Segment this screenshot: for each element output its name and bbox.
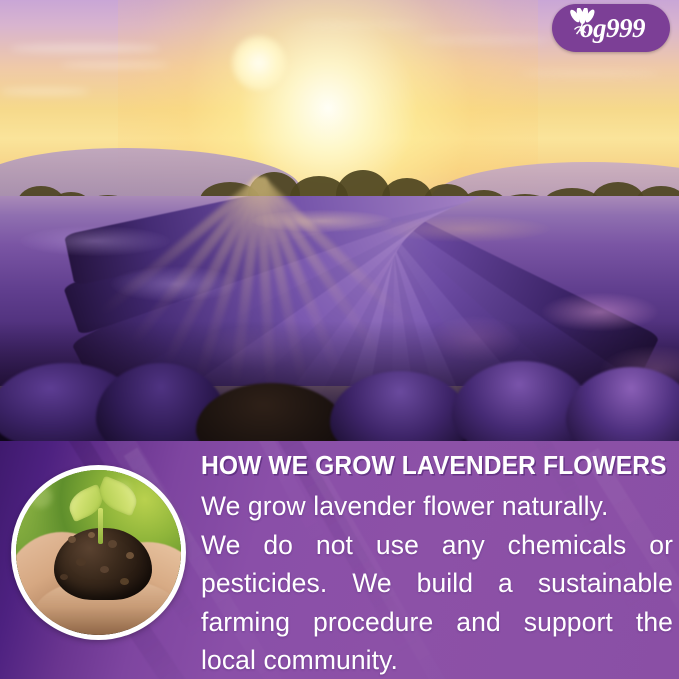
brand-logo-badge[interactable]: og999: [552, 4, 670, 52]
panel-headline: HOW WE GROW LAVENDER FLOWERS: [201, 451, 656, 481]
body-line-4: farming procedure and support the: [201, 603, 673, 642]
cloud-streak: [10, 44, 160, 53]
body-line-2: We do not use any chemicals or: [201, 526, 673, 565]
lavender-field: [0, 196, 679, 441]
cloud-streak: [520, 70, 660, 77]
seedling-inset-photo: [11, 465, 186, 640]
cloud-streak: [420, 36, 550, 44]
brand-logo-text: og999: [580, 13, 645, 44]
hero-lavender-field-photo: og999: [0, 0, 679, 441]
panel-body-text: We grow lavender flower naturally. We do…: [201, 487, 673, 679]
body-line-3: pesticides. We build a sustainable: [201, 564, 673, 603]
cloud-streak: [60, 62, 170, 68]
body-line-5: local community.: [201, 641, 673, 679]
cloud-streak: [300, 22, 420, 28]
cloud-streak: [0, 88, 90, 95]
caption-text-block: HOW WE GROW LAVENDER FLOWERS We grow lav…: [201, 443, 673, 679]
seedling-stem: [98, 508, 103, 544]
sun-disc: [232, 36, 286, 90]
infographic-card: og999: [0, 0, 679, 679]
body-line-1: We grow lavender flower naturally.: [201, 487, 673, 526]
caption-panel: HOW WE GROW LAVENDER FLOWERS We grow lav…: [0, 441, 679, 679]
